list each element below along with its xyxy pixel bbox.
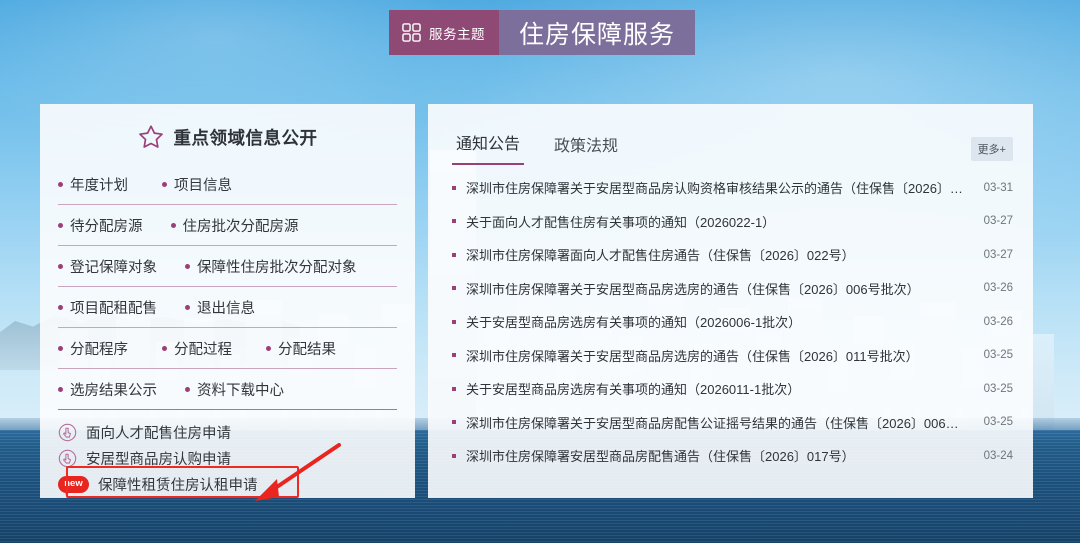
notice-title: 关于安居型商品房选房有关事项的通知（2026011-1批次） [466,379,970,398]
click-hand-icon [58,423,77,442]
link-allocation-result[interactable]: 分配结果 [266,338,336,359]
bullet-icon [452,353,456,357]
disclosure-row: 选房结果公示 资料下载中心 [58,369,397,410]
key-area-disclosure-panel: 重点领域信息公开 年度计划 项目信息 待分配房源 住房批次分配房源 [40,104,415,498]
link-registered-objects[interactable]: 登记保障对象 [58,256,157,277]
notice-title: 关于面向人才配售住房有关事项的通知（2026022-1） [466,212,970,231]
link-housing-selection-result[interactable]: 选房结果公示 [58,379,157,400]
notice-list: 深圳市住房保障署关于安居型商品房认购资格审核结果公示的通告（住保售〔2026〕0… [452,171,1013,473]
application-link-list: 面向人才配售住房申请 安居型商品房认购申请 new 保障性租赁住房认租申请 [58,419,397,497]
list-item[interactable]: 关于安居型商品房选房有关事项的通知（2026011-1批次） 03-25 [452,372,1013,406]
bullet-icon [452,186,456,190]
link-label: 保障性住房批次分配对象 [197,256,357,277]
link-label: 项目配租配售 [70,297,157,318]
bullet-icon [58,387,63,392]
link-label: 退出信息 [197,297,255,318]
new-badge-icon: new [58,476,89,493]
link-project-rent-sale[interactable]: 项目配租配售 [58,297,157,318]
list-item[interactable]: 深圳市住房保障署关于安居型商品房选房的通告（住保售〔2026〕006号批次） 0… [452,272,1013,306]
disclosure-row: 待分配房源 住房批次分配房源 [58,205,397,246]
bullet-icon [58,305,63,310]
link-project-info[interactable]: 项目信息 [162,174,232,195]
bullet-icon [58,182,63,187]
link-allocation-procedure[interactable]: 分配程序 [58,338,128,359]
bullet-icon [452,454,456,458]
tab-notices[interactable]: 通知公告 [452,130,524,165]
link-batch-housing[interactable]: 住房批次分配房源 [171,215,299,236]
apply-rental-housing[interactable]: new 保障性租赁住房认租申请 [58,471,397,497]
link-batch-allocation-objects[interactable]: 保障性住房批次分配对象 [185,256,357,277]
link-download-center[interactable]: 资料下载中心 [185,379,284,400]
bullet-icon [162,346,167,351]
bullet-icon [58,346,63,351]
list-item[interactable]: 深圳市住房保障署关于安居型商品房配售公证摇号结果的通告（住保售〔2026〕006… [452,406,1013,440]
link-label: 待分配房源 [70,215,143,236]
page-header-badge: 服务主题 住房保障服务 [389,10,695,55]
disclosure-row: 项目配租配售 退出信息 [58,287,397,328]
bullet-icon [171,223,176,228]
link-exit-info[interactable]: 退出信息 [185,297,255,318]
link-label: 分配程序 [70,338,128,359]
bullet-icon [452,420,456,424]
notice-title: 深圳市住房保障署关于安居型商品房配售公证摇号结果的通告（住保售〔2026〕006… [466,413,970,432]
star-icon [138,124,164,150]
page-title-banner: 住房保障服务 [499,10,695,55]
list-item[interactable]: 深圳市住房保障署面向人才配售住房通告（住保售〔2026〕022号） 03-27 [452,238,1013,272]
notice-date: 03-26 [984,282,1013,294]
apply-label: 安居型商品房认购申请 [86,448,231,469]
link-label: 项目信息 [174,174,232,195]
list-item[interactable]: 深圳市住房保障署关于安居型商品房选房的通告（住保售〔2026〕011号批次） 0… [452,339,1013,373]
notice-title: 深圳市住房保障署关于安居型商品房选房的通告（住保售〔2026〕006号批次） [466,279,970,298]
bullet-icon [162,182,167,187]
service-theme-badge: 服务主题 [389,10,499,55]
link-label: 资料下载中心 [197,379,284,400]
notice-date: 03-25 [984,349,1013,361]
apply-label: 保障性租赁住房认租申请 [98,474,258,495]
list-item[interactable]: 关于面向人才配售住房有关事项的通知（2026022-1） 03-27 [452,205,1013,239]
grid-icon [402,23,421,42]
tab-policies[interactable]: 政策法规 [550,132,622,165]
click-hand-icon [58,449,77,468]
disclosure-row: 年度计划 项目信息 [58,164,397,205]
notice-date: 03-24 [984,450,1013,462]
new-badge-label: new [64,479,82,489]
bullet-icon [452,286,456,290]
link-label: 登记保障对象 [70,256,157,277]
apply-anju-purchase[interactable]: 安居型商品房认购申请 [58,445,397,471]
notice-title: 深圳市住房保障署关于安居型商品房认购资格审核结果公示的通告（住保售〔2026〕0… [466,178,970,197]
apply-label: 面向人才配售住房申请 [86,422,231,443]
notice-tabs: 通知公告 政策法规 更多+ [452,130,1013,165]
bullet-icon [185,387,190,392]
disclosure-row: 分配程序 分配过程 分配结果 [58,328,397,369]
notice-title: 深圳市住房保障署面向人才配售住房通告（住保售〔2026〕022号） [466,245,970,264]
left-panel-header: 重点领域信息公开 [40,124,415,150]
apply-talent-housing[interactable]: 面向人才配售住房申请 [58,419,397,445]
link-label: 住房批次分配房源 [183,215,299,236]
more-button[interactable]: 更多+ [971,137,1013,161]
link-label: 分配过程 [174,338,232,359]
notice-date: 03-27 [984,215,1013,227]
bullet-icon [452,253,456,257]
list-item[interactable]: 深圳市住房保障署安居型商品房配售通告（住保售〔2026〕017号） 03-24 [452,439,1013,473]
notice-date: 03-25 [984,383,1013,395]
bullet-icon [452,387,456,391]
notice-date: 03-31 [984,182,1013,194]
bullet-icon [185,305,190,310]
list-item[interactable]: 关于安居型商品房选房有关事项的通知（2026006-1批次） 03-26 [452,305,1013,339]
link-label: 分配结果 [278,338,336,359]
link-pending-housing[interactable]: 待分配房源 [58,215,143,236]
bullet-icon [58,223,63,228]
notice-date: 03-27 [984,249,1013,261]
link-allocation-process[interactable]: 分配过程 [162,338,232,359]
notice-panel: 通知公告 政策法规 更多+ 深圳市住房保障署关于安居型商品房认购资格审核结果公示… [428,104,1033,498]
notice-date: 03-25 [984,416,1013,428]
bullet-icon [58,264,63,269]
notice-title: 关于安居型商品房选房有关事项的通知（2026006-1批次） [466,312,970,331]
bullet-icon [185,264,190,269]
notice-title: 深圳市住房保障署关于安居型商品房选房的通告（住保售〔2026〕011号批次） [466,346,970,365]
service-theme-label: 服务主题 [429,23,485,43]
list-item[interactable]: 深圳市住房保障署关于安居型商品房认购资格审核结果公示的通告（住保售〔2026〕0… [452,171,1013,205]
notice-title: 深圳市住房保障署安居型商品房配售通告（住保售〔2026〕017号） [466,446,970,465]
page-title: 住房保障服务 [519,15,675,51]
link-annual-plan[interactable]: 年度计划 [58,174,128,195]
left-panel-title: 重点领域信息公开 [174,125,318,150]
disclosure-row: 登记保障对象 保障性住房批次分配对象 [58,246,397,287]
link-label: 选房结果公示 [70,379,157,400]
link-label: 年度计划 [70,174,128,195]
notice-date: 03-26 [984,316,1013,328]
bullet-icon [266,346,271,351]
disclosure-link-list: 年度计划 项目信息 待分配房源 住房批次分配房源 登记保障对象 [58,164,397,410]
bullet-icon [452,219,456,223]
bullet-icon [452,320,456,324]
